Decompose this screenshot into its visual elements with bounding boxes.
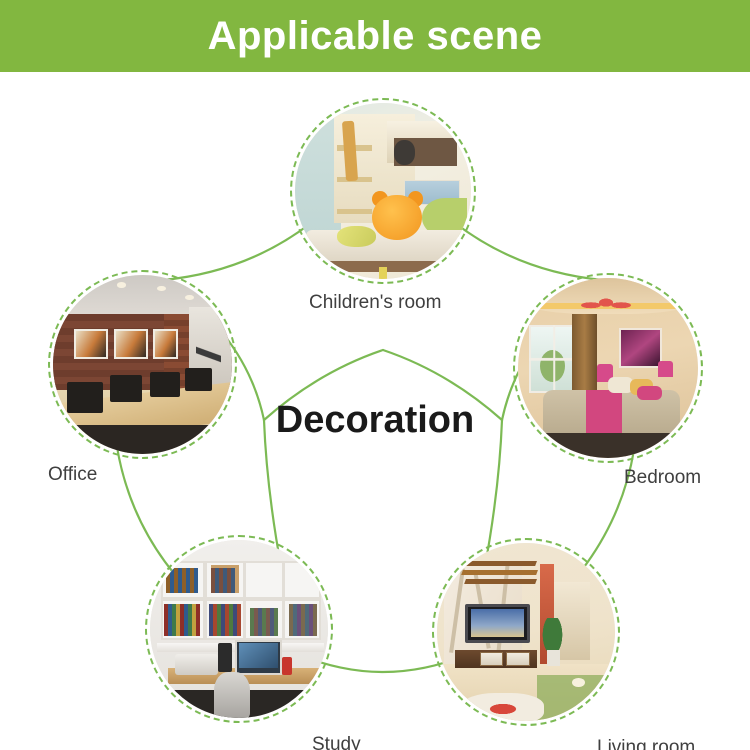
node-office[interactable]: Office [53, 275, 232, 454]
study-photo [150, 540, 328, 718]
node-label-office: Office [48, 465, 97, 484]
node-label-study: Study [312, 735, 361, 750]
scene-diagram: Decoration [0, 72, 750, 750]
node-label-children-room: Children's room [309, 293, 441, 312]
node-study[interactable]: Study [150, 540, 328, 718]
node-label-bedroom: Bedroom [624, 468, 701, 487]
page-title: Applicable scene [208, 16, 543, 56]
node-bedroom[interactable]: Bedroom [518, 278, 698, 458]
node-label-living-room: Living room [597, 738, 695, 750]
living-room-photo [437, 543, 615, 721]
node-children-room[interactable]: Children's room [295, 103, 471, 279]
bedroom-photo [518, 278, 698, 458]
office-photo [53, 275, 232, 454]
header-banner: Applicable scene [0, 0, 750, 72]
arc-children-to-office [163, 223, 311, 280]
arc-children-to-bedroom [455, 223, 603, 280]
applicable-scene-page: Applicable scene Decoration [0, 0, 750, 750]
children-room-photo [295, 103, 471, 279]
node-living-room[interactable]: Living room [437, 543, 615, 721]
